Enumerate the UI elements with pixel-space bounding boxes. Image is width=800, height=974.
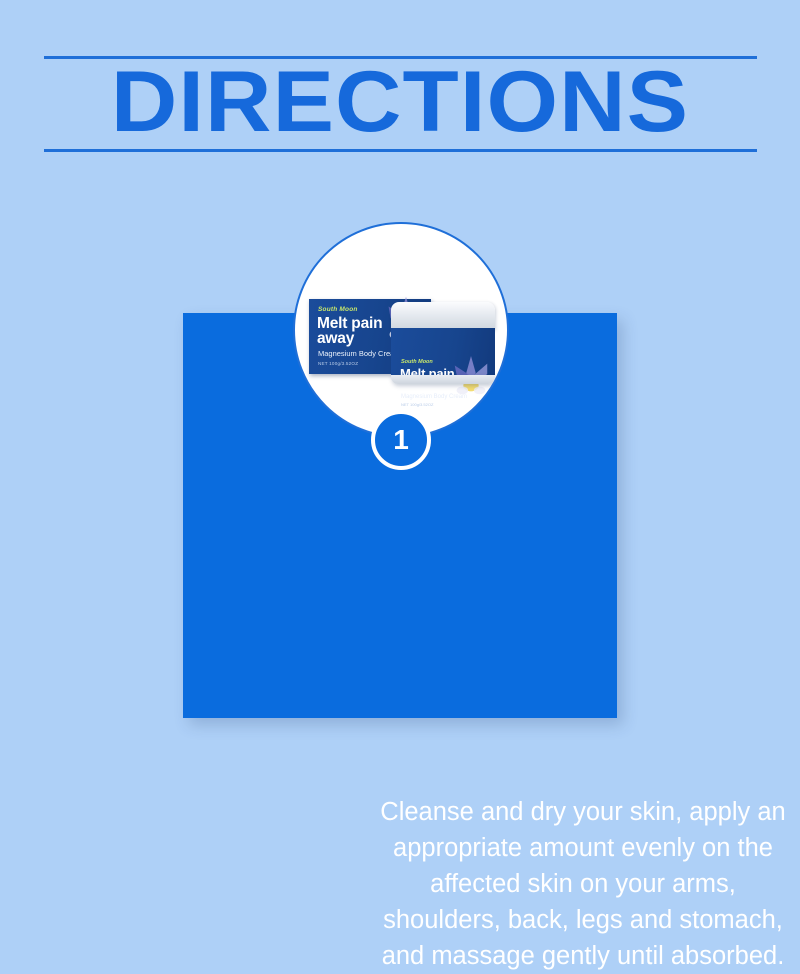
carton-brand: South Moon [318, 306, 358, 313]
header-rule-bottom [44, 149, 757, 152]
product-jar: South Moon Melt pain away Magnesium Body… [391, 302, 495, 384]
step-number-badge: 1 [371, 410, 431, 470]
carton-subtitle: Magnesium Body Cream [318, 349, 401, 358]
product-image-circle: South Moon Melt pain away Magnesium Body… [293, 222, 509, 438]
carton-net-weight: NET 100g/3.52OZ [318, 361, 358, 366]
jar-label: South Moon Melt pain away Magnesium Body… [391, 328, 495, 376]
step-description: Cleanse and dry your skin, apply an appr… [379, 794, 787, 974]
product-photo: South Moon Melt pain away Magnesium Body… [295, 224, 509, 438]
jar-base [391, 375, 495, 384]
header: DIRECTIONS [0, 0, 800, 170]
jar-subtitle: Magnesium Body Cream [401, 394, 467, 400]
jar-lid [391, 302, 495, 330]
jar-net-weight: NET 100g/3.52OZ [401, 402, 433, 407]
jar-brand: South Moon [401, 359, 433, 365]
page-title: DIRECTIONS [0, 54, 800, 150]
